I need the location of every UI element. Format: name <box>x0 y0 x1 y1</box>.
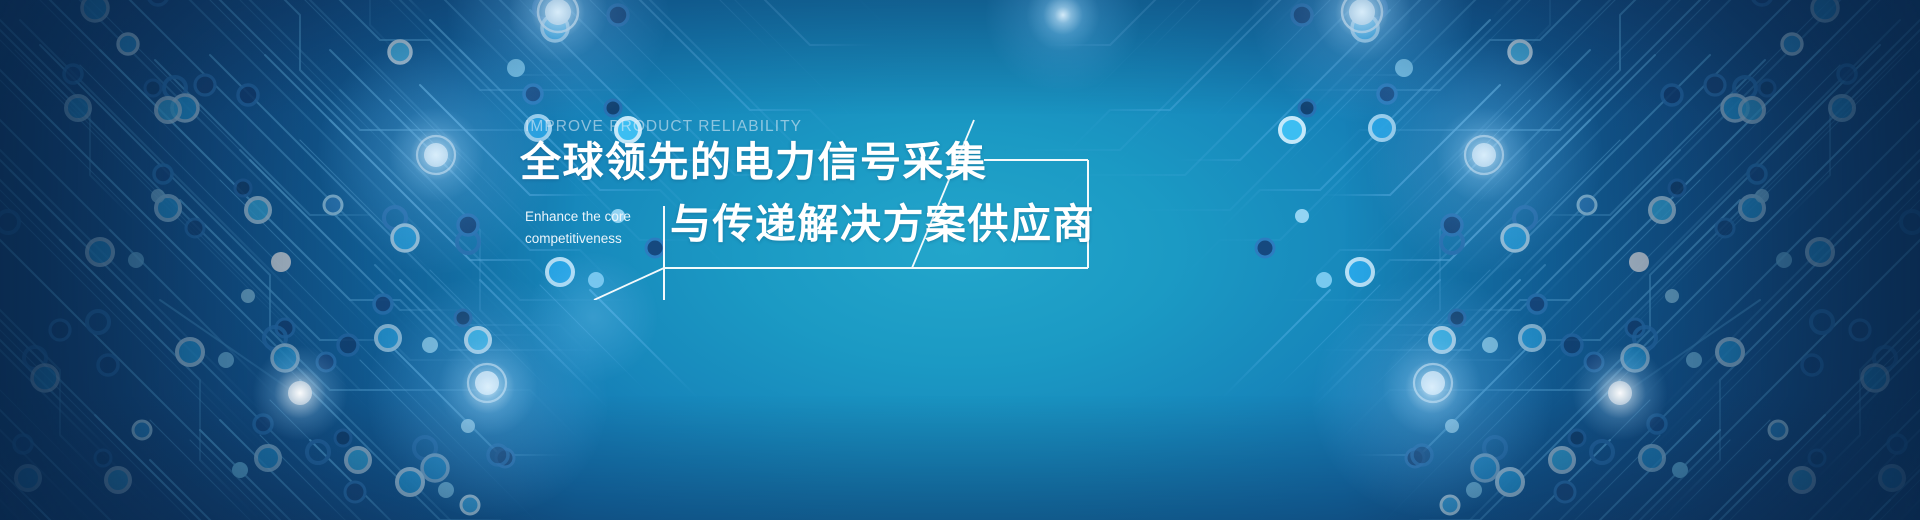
glow-halo-top-right <box>1252 0 1472 122</box>
glow-point-bottom-right <box>1382 337 1482 437</box>
glow-point-low-left <box>252 345 348 441</box>
headline-line-2: 与传递解决方案供应商 <box>670 201 1095 248</box>
glow-point-bottom-left <box>438 337 538 437</box>
subtitle-line-1: Enhance the core <box>525 206 650 228</box>
hero-text-block: IMPROVE PRODUCT RELIABILITY 全球领先的电力信号采集 … <box>520 118 1100 298</box>
glow-point-upper-right <box>1026 0 1100 52</box>
hero-banner: IMPROVE PRODUCT RELIABILITY 全球领先的电力信号采集 … <box>0 0 1920 520</box>
glow-point-top-right <box>1312 0 1412 62</box>
glow-point-mid-right <box>1436 107 1532 203</box>
eyebrow-text: IMPROVE PRODUCT RELIABILITY <box>525 118 802 136</box>
glow-halo-top-left <box>448 0 668 122</box>
headline-line-1: 全球领先的电力信号采集 <box>520 139 988 186</box>
glow-halo-bottom-right <box>1312 277 1552 517</box>
subtitle-line-2: competitiveness <box>525 228 650 250</box>
glow-halo-mid-left <box>318 37 554 273</box>
glow-point-low-right <box>1572 345 1668 441</box>
glow-point-top-left <box>508 0 608 62</box>
glow-halo-bottom-left <box>368 277 608 517</box>
glow-point-mid-left <box>388 107 484 203</box>
glow-halo-mid-right <box>1366 37 1602 273</box>
subtitle-block: Enhance the core competitiveness <box>525 206 650 250</box>
glow-halo-upper-right <box>986 0 1140 92</box>
